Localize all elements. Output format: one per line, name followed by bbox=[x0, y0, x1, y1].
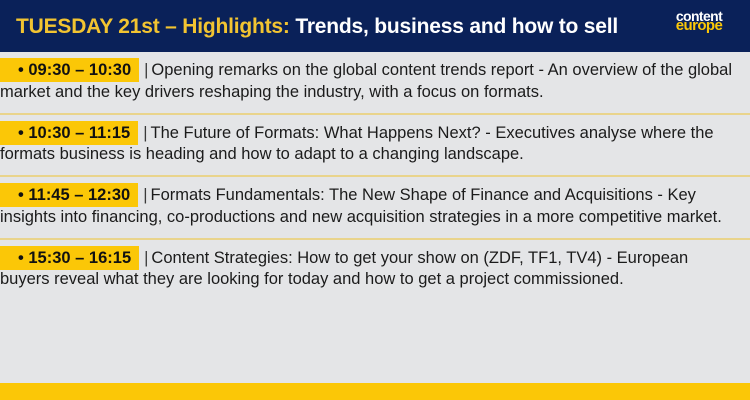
session-time-chip: • 15:30 – 16:15 bbox=[0, 246, 139, 270]
session-time-chip: • 11:45 – 12:30 bbox=[0, 183, 138, 207]
session-separator: | bbox=[138, 124, 150, 142]
slide-header: TUESDAY 21st – Highlights: Trends, busin… bbox=[0, 0, 750, 52]
list-item: • 11:45 – 12:30|Formats Fundamentals: Th… bbox=[0, 177, 750, 240]
session-separator: | bbox=[139, 249, 151, 267]
session-line: • 09:30 – 10:30|Opening remarks on the g… bbox=[0, 60, 736, 104]
list-item: • 10:30 – 11:15|The Future of Formats: W… bbox=[0, 115, 750, 178]
bullet-icon: • bbox=[18, 61, 24, 79]
session-line: • 15:30 – 16:15|Content Strategies: How … bbox=[0, 248, 736, 292]
brand-logo: content europe bbox=[660, 11, 738, 33]
session-time: 10:30 – 11:15 bbox=[28, 124, 130, 142]
page-title-accent: TUESDAY 21st – Highlights: bbox=[16, 15, 290, 38]
session-line: • 10:30 – 11:15|The Future of Formats: W… bbox=[0, 123, 736, 167]
session-time: 09:30 – 10:30 bbox=[28, 61, 131, 79]
session-list: • 09:30 – 10:30|Opening remarks on the g… bbox=[0, 52, 750, 300]
bullet-icon: • bbox=[18, 124, 24, 142]
session-line: • 11:45 – 12:30|Formats Fundamentals: Th… bbox=[0, 185, 736, 229]
session-time-chip: • 10:30 – 11:15 bbox=[0, 121, 138, 145]
session-separator: | bbox=[139, 61, 151, 79]
session-time-chip: • 09:30 – 10:30 bbox=[0, 58, 139, 82]
bullet-icon: • bbox=[18, 186, 24, 204]
list-item: • 09:30 – 10:30|Opening remarks on the g… bbox=[0, 52, 750, 115]
footer-accent-bar bbox=[0, 383, 750, 400]
page-title-main: Trends, business and how to sell bbox=[295, 15, 618, 38]
session-separator: | bbox=[138, 186, 150, 204]
list-item: • 15:30 – 16:15|Content Strategies: How … bbox=[0, 240, 750, 301]
page-title: TUESDAY 21st – Highlights: Trends, busin… bbox=[16, 16, 618, 37]
brand-logo-line-europe: europe bbox=[660, 20, 738, 32]
session-time: 11:45 – 12:30 bbox=[28, 186, 130, 204]
slide-root: TUESDAY 21st – Highlights: Trends, busin… bbox=[0, 0, 750, 400]
session-time: 15:30 – 16:15 bbox=[28, 249, 131, 267]
bullet-icon: • bbox=[18, 249, 24, 267]
